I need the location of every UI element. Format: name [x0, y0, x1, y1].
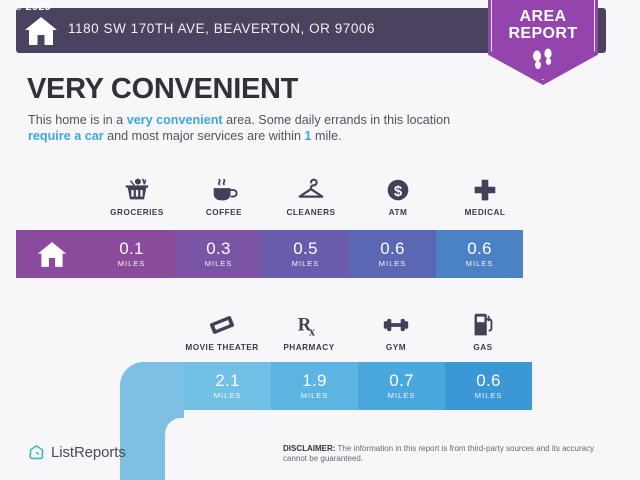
disclaimer-text: DISCLAIMER: The information in this repo… — [283, 444, 613, 464]
amenity-label: GROCERIES — [100, 208, 174, 217]
movie-ticket-icon — [207, 310, 237, 340]
amenity-groceries: GROCERIES — [100, 167, 174, 217]
amenity-gym: GYM — [359, 302, 433, 352]
bar-home-marker — [16, 230, 88, 278]
distance-unit: MILES — [379, 259, 407, 268]
amenity-pharmacy: R xPHARMACY — [272, 302, 346, 352]
home-icon — [24, 16, 58, 46]
listreports-logo[interactable]: ListReports — [28, 444, 126, 461]
bar-row-2-spacer — [120, 362, 184, 410]
distance-unit: MILES — [301, 391, 329, 400]
distance-value: 0.6 — [476, 372, 501, 389]
distance-unit: MILES — [475, 391, 503, 400]
amenity-label: ATM — [361, 208, 435, 217]
page-title: VERY CONVENIENT — [27, 73, 298, 106]
badge-line-2: REPORT — [488, 25, 598, 42]
distance-unit: MILES — [118, 259, 146, 268]
amenity-label: CLEANERS — [274, 208, 348, 217]
copyright-text: © 2025 — [14, 1, 51, 13]
distance-segment-gas: 0.6MILES — [445, 362, 532, 410]
distance-value: 0.7 — [389, 372, 414, 389]
amenity-label: GAS — [446, 343, 520, 352]
distance-bar-row-1: 0.1MILES0.3MILES0.5MILES0.6MILES0.6MILES — [16, 230, 608, 278]
amenity-icon-row-2: MOVIE THEATERR xPHARMACY GYM GAS — [185, 302, 560, 360]
distance-unit: MILES — [205, 259, 233, 268]
distance-value: 1.9 — [302, 372, 327, 389]
distance-unit: MILES — [388, 391, 416, 400]
amenity-label: GYM — [359, 343, 433, 352]
footprints-icon — [529, 48, 557, 72]
distance-segment-coffee: 0.3MILES — [175, 230, 262, 278]
amenity-gas: GAS — [446, 302, 520, 352]
area-report-badge: AREA REPORT — [488, 0, 598, 85]
badge-text: AREA REPORT — [488, 8, 598, 42]
listreports-logo-icon — [28, 444, 45, 461]
amenity-label: PHARMACY — [272, 343, 346, 352]
hanger-icon — [274, 167, 348, 205]
amenity-label: MEDICAL — [448, 208, 522, 217]
amenity-label: COFFEE — [187, 208, 261, 217]
distance-value: 2.1 — [215, 372, 240, 389]
amenity-cleaners: CLEANERS — [274, 167, 348, 217]
coffee-cup-icon — [209, 175, 239, 205]
rx-icon: R x — [272, 302, 346, 340]
distance-unit: MILES — [292, 259, 320, 268]
distance-value: 0.6 — [380, 240, 405, 257]
distance-value: 0.6 — [467, 240, 492, 257]
hanger-icon — [296, 175, 326, 205]
distance-segment-cleaners: 0.5MILES — [262, 230, 349, 278]
coffee-cup-icon — [187, 167, 261, 205]
distance-segment-gym: 0.7MILES — [358, 362, 445, 410]
medical-cross-icon — [470, 175, 500, 205]
distance-segment-pharmacy: 1.9MILES — [271, 362, 358, 410]
distance-value: 0.1 — [119, 240, 144, 257]
distance-segment-atm: 0.6MILES — [349, 230, 436, 278]
amenity-atm: $ATM — [361, 167, 435, 217]
grocery-basket-icon — [100, 167, 174, 205]
svg-text:$: $ — [394, 183, 403, 200]
gas-pump-icon — [468, 310, 498, 340]
grocery-basket-icon — [122, 175, 152, 205]
distance-bar-row-2: 2.1MILES1.9MILES0.7MILES0.6MILES — [120, 362, 608, 410]
disclaimer-label: DISCLAIMER: — [283, 444, 335, 453]
home-icon — [37, 241, 67, 268]
dollar-circle-icon: $ — [361, 167, 435, 205]
badge-line-1: AREA — [488, 8, 598, 25]
amenity-label: MOVIE THEATER — [185, 343, 259, 352]
medical-cross-icon — [448, 167, 522, 205]
dumbbell-icon — [381, 310, 411, 340]
amenity-movie-theater: MOVIE THEATER — [185, 302, 259, 352]
amenity-icon-row-1: GROCERIES COFFEE CLEANERS $ATMMEDICAL — [100, 167, 560, 225]
distance-segment-groceries: 0.1MILES — [88, 230, 175, 278]
movie-ticket-icon — [185, 302, 259, 340]
distance-value: 0.5 — [293, 240, 318, 257]
svg-text:x: x — [309, 324, 316, 338]
distance-segment-movie-theater: 2.1MILES — [184, 362, 271, 410]
amenity-medical: MEDICAL — [448, 167, 522, 217]
rx-icon: R x — [294, 310, 324, 340]
summary-description: This home is in a very convenient area. … — [28, 113, 473, 144]
logo-text: ListReports — [51, 444, 126, 461]
gas-pump-icon — [446, 302, 520, 340]
distance-unit: MILES — [214, 391, 242, 400]
amenity-coffee: COFFEE — [187, 167, 261, 217]
distance-segment-medical: 0.6MILES — [436, 230, 523, 278]
distance-value: 0.3 — [206, 240, 231, 257]
distance-unit: MILES — [466, 259, 494, 268]
dollar-circle-icon: $ — [383, 175, 413, 205]
dumbbell-icon — [359, 302, 433, 340]
area-report-page: © 2025 1180 SW 170TH AVE, BEAVERTON, OR … — [0, 0, 640, 480]
property-address: 1180 SW 170TH AVE, BEAVERTON, OR 97006 — [68, 21, 375, 36]
